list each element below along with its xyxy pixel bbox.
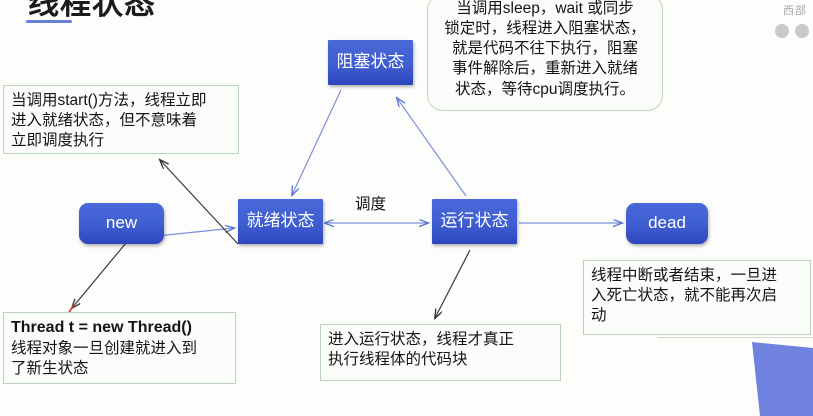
note-blocked-line-4: 事件解除后，重新进入就绪 <box>438 59 652 79</box>
state-node-dead-label: dead <box>648 214 686 233</box>
watermark-text: 西部 <box>783 2 807 18</box>
state-node-dead[interactable]: dead <box>626 203 708 244</box>
edge-label-dispatch: 调度 <box>355 192 386 214</box>
note-dead-explanation: 线程中断或者结束，一旦进 入死亡状态，就不能再次启 动 <box>583 260 811 335</box>
red-tick-mark <box>69 305 74 312</box>
edge-running-to-blocked <box>397 98 466 196</box>
edge-new-to-thread-note <box>72 243 126 308</box>
edge-running-to-running-note <box>435 250 470 318</box>
state-node-new-label: new <box>106 214 137 233</box>
slide-canvas: 线程状态 <box>0 0 813 416</box>
watermark-dot-2 <box>795 24 809 38</box>
state-node-running[interactable]: 运行状态 <box>432 199 517 244</box>
watermark-dots <box>775 24 809 38</box>
note-dead-line-3: 动 <box>591 306 803 326</box>
note-start-line-3: 立即调度执行 <box>11 131 231 151</box>
note-thread-code-line: Thread t = new Thread() <box>11 318 228 339</box>
note-running-explanation: 进入运行状态，线程才真正 执行线程体的代码块 <box>320 324 561 381</box>
note-running-line-1: 进入运行状态，线程才真正 <box>328 330 553 350</box>
state-node-blocked-label: 阻塞状态 <box>337 53 405 72</box>
note-blocked-explanation: 当调用sleep，wait 或同步 锁定时，线程进入阻塞状态， 就是代码不往下执… <box>427 0 663 111</box>
note-start-line-1: 当调用start()方法，线程立即 <box>11 91 231 111</box>
corner-hairline-divider <box>657 337 813 338</box>
note-blocked-line-2: 锁定时，线程进入阻塞状态， <box>438 19 652 39</box>
state-node-blocked[interactable]: 阻塞状态 <box>328 40 413 85</box>
state-node-new[interactable]: new <box>79 203 164 244</box>
note-start-line-2: 进入就绪状态，但不意味着 <box>11 111 231 131</box>
state-node-running-label: 运行状态 <box>441 212 509 231</box>
note-thread-line-1: 线程对象一旦创建就进入到 <box>11 339 228 359</box>
watermark-dot-1 <box>775 24 789 38</box>
state-node-ready[interactable]: 就绪状态 <box>238 199 323 244</box>
title-underline-rule <box>26 20 72 23</box>
state-node-ready-label: 就绪状态 <box>247 212 315 231</box>
note-blocked-line-5: 状态，等待cpu调度执行。 <box>438 80 652 100</box>
note-dead-line-2: 入死亡状态，就不能再次启 <box>591 286 803 306</box>
note-thread-creation: Thread t = new Thread() 线程对象一旦创建就进入到 了新生… <box>3 312 236 384</box>
note-start-method: 当调用start()方法，线程立即 进入就绪状态，但不意味着 立即调度执行 <box>3 85 239 154</box>
edge-ready-to-start-note <box>160 160 238 244</box>
note-blocked-line-3: 就是代码不往下执行，阻塞 <box>438 39 652 59</box>
note-running-line-2: 执行线程体的代码块 <box>328 350 553 370</box>
edge-blocked-to-ready <box>292 90 341 195</box>
note-dead-line-1: 线程中断或者结束，一旦进 <box>591 266 803 286</box>
note-thread-line-2: 了新生状态 <box>11 359 228 379</box>
note-blocked-line-1: 当调用sleep，wait 或同步 <box>438 0 652 19</box>
